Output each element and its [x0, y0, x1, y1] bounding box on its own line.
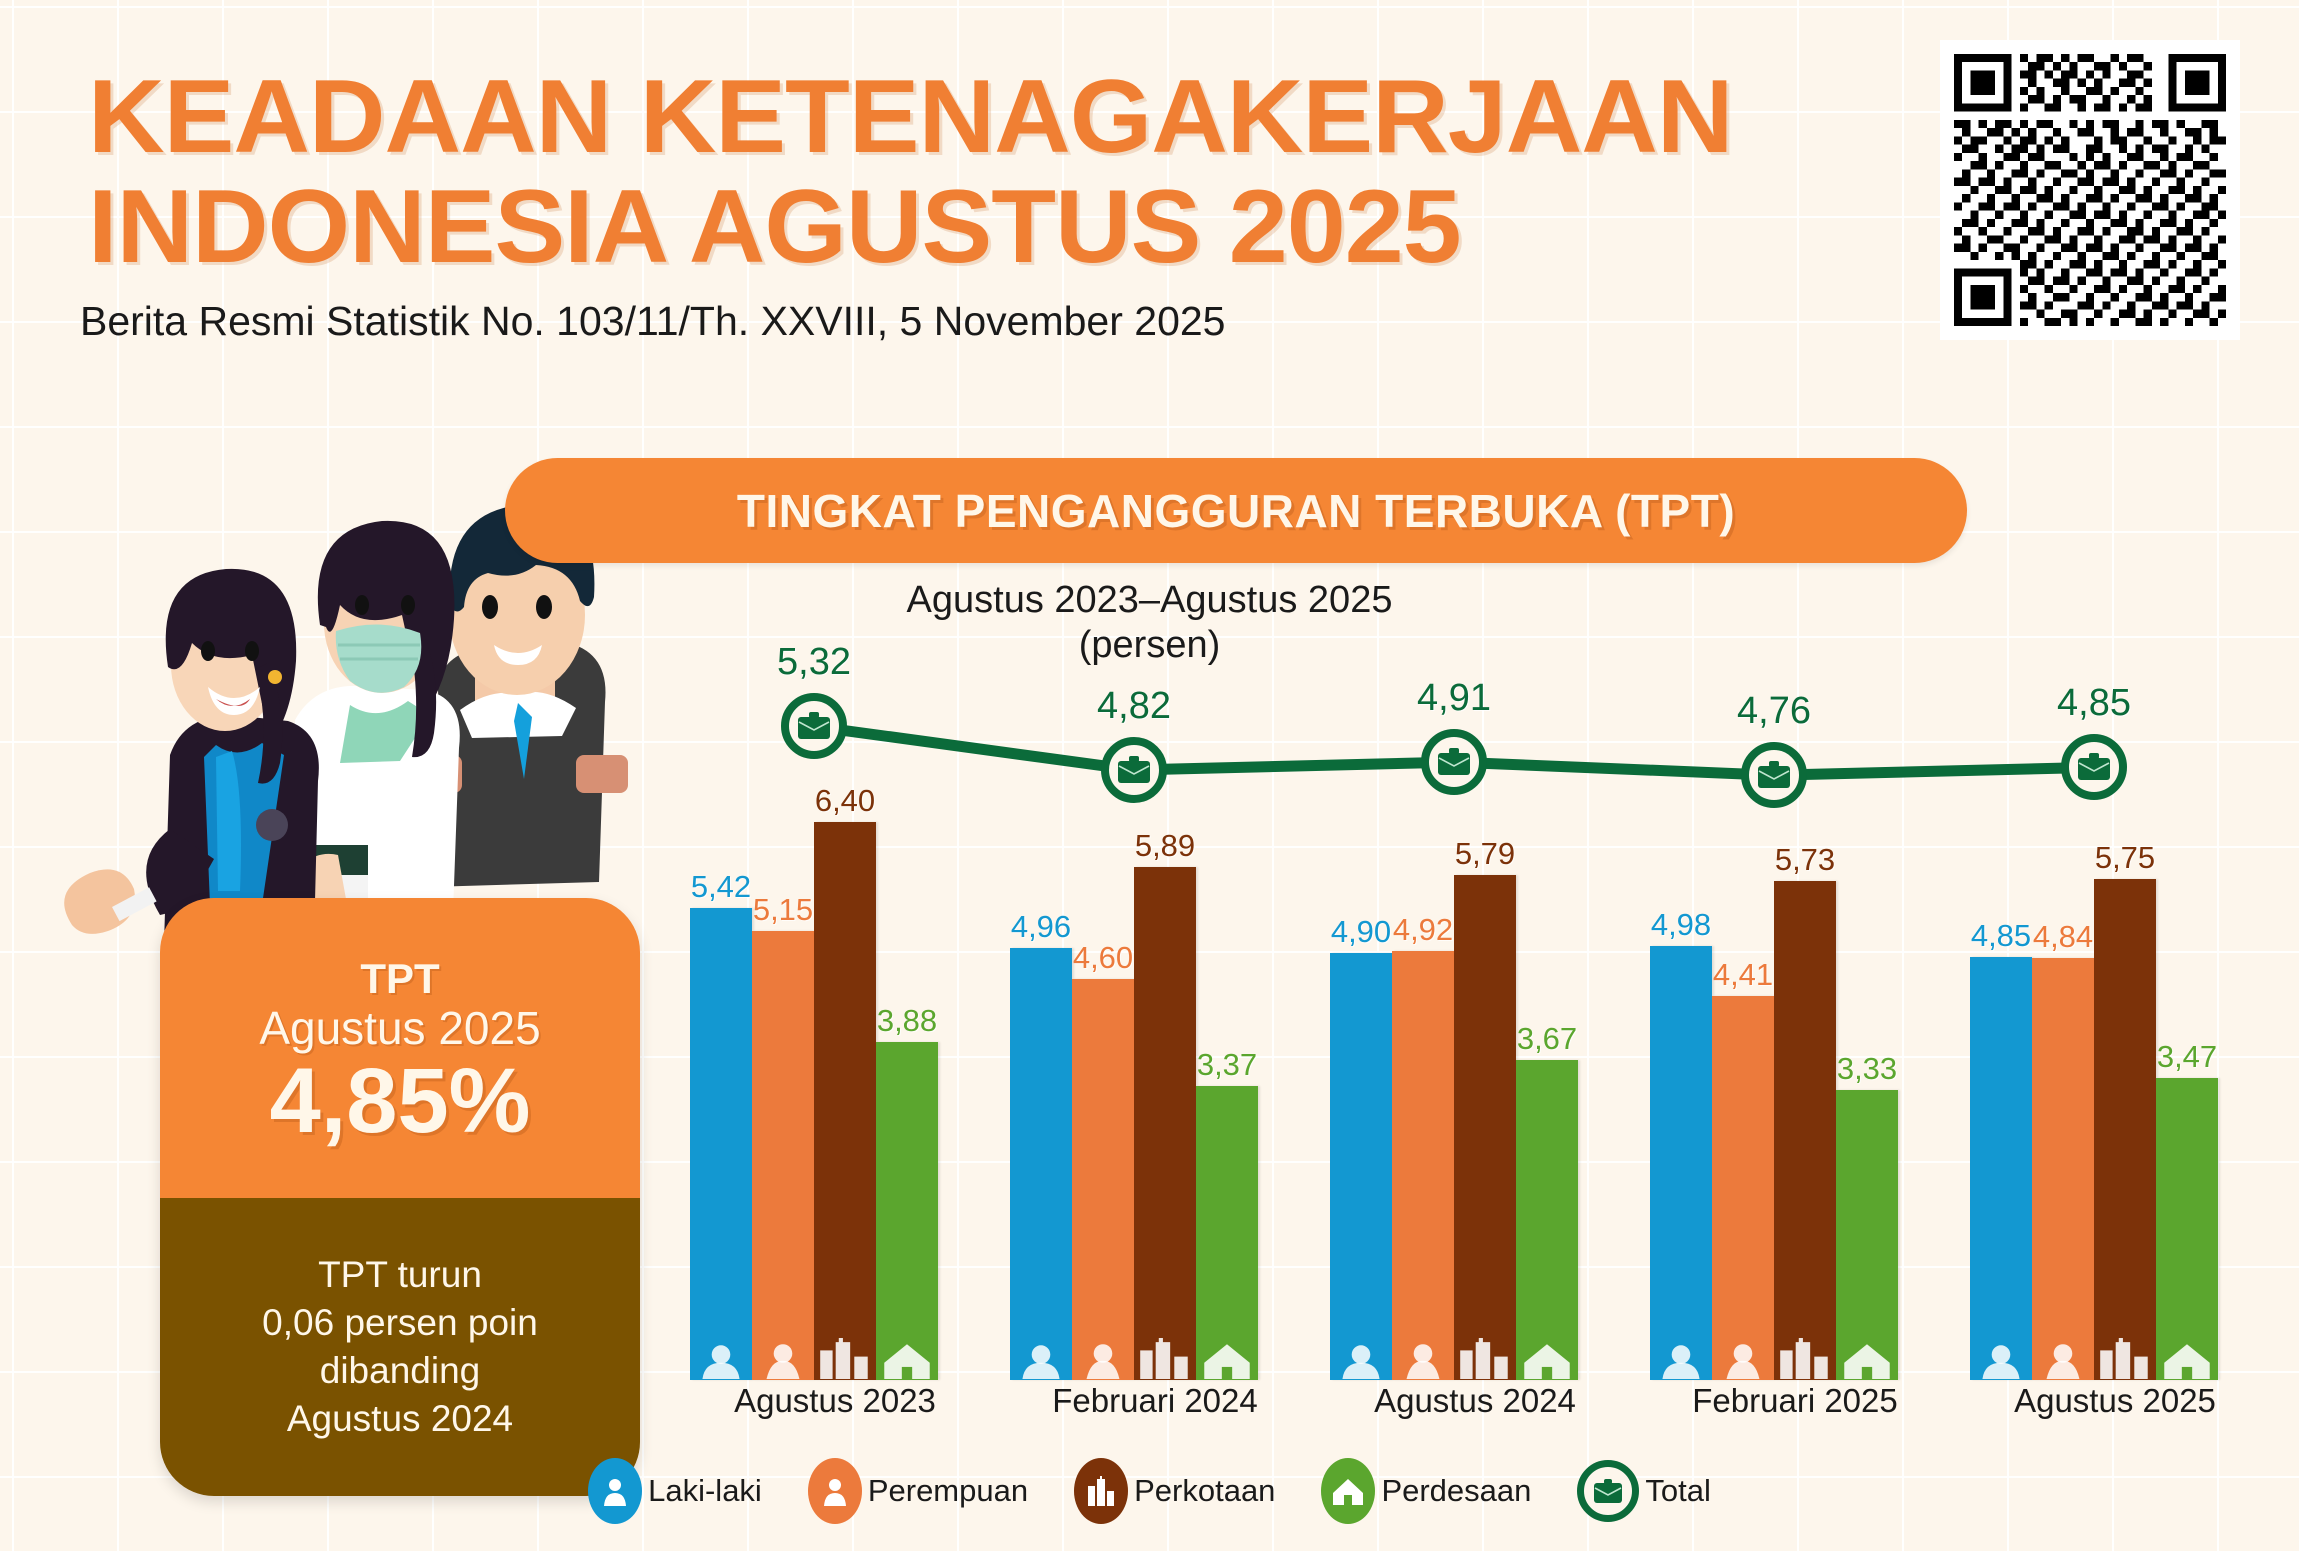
- bar-silhouette-icon: [1970, 1338, 2032, 1380]
- infographic-page: KEADAAN KETENAGAKERJAAN INDONESIA AGUSTU…: [0, 0, 2299, 1551]
- bar-silhouette-icon: [690, 1338, 752, 1380]
- chart-bars: 4,904,925,793,67: [1330, 620, 1620, 1380]
- x-axis-label: Februari 2025: [1650, 1382, 1940, 1420]
- tpt-summary-top: TPT Agustus 2025 4,85%: [160, 898, 640, 1198]
- chart-bars: 4,854,845,753,47: [1970, 620, 2260, 1380]
- legend-label: Total: [1645, 1473, 1710, 1509]
- legend-item-perkotaan[interactable]: Perkotaan: [1074, 1458, 1275, 1524]
- bar-silhouette-icon: [1712, 1338, 1774, 1380]
- chart-group: 4,854,845,753,47: [1970, 620, 2260, 1380]
- total-marker-briefcase-icon[interactable]: [1101, 737, 1167, 803]
- tpt-note-line-3: dibanding: [320, 1347, 480, 1395]
- chart-bars: 4,964,605,893,37: [1010, 620, 1300, 1380]
- x-axis-label: Agustus 2025: [1970, 1382, 2260, 1420]
- tpt-summary-card: TPT Agustus 2025 4,85% TPT turun 0,06 pe…: [160, 898, 640, 1496]
- tpt-note-line-4: Agustus 2024: [287, 1395, 513, 1443]
- briefcase-icon: [1577, 1460, 1639, 1522]
- bar-perempuan[interactable]: 4,41: [1712, 996, 1774, 1380]
- chart-banner-title: TINGKAT PENGANGGURAN TERBUKA (TPT): [737, 484, 1735, 538]
- bar-column: 3,47: [2156, 620, 2218, 1380]
- total-marker-briefcase-icon[interactable]: [781, 693, 847, 759]
- qr-code[interactable]: [1940, 40, 2240, 340]
- bar-laki-laki[interactable]: 4,96: [1010, 948, 1072, 1380]
- bar-perempuan[interactable]: 4,84: [2032, 958, 2094, 1380]
- bar-column: 4,41: [1712, 620, 1774, 1380]
- legend-label: Laki-laki: [648, 1473, 762, 1509]
- bar-value-label: 3,88: [877, 1003, 937, 1039]
- bar-column: 5,42: [690, 620, 752, 1380]
- x-axis-label: Agustus 2023: [690, 1382, 980, 1420]
- bar-silhouette-icon: [1836, 1338, 1898, 1380]
- bar-perkotaan[interactable]: 5,75: [2094, 879, 2156, 1380]
- bar-silhouette-icon: [2094, 1338, 2156, 1380]
- bar-silhouette-icon: [876, 1338, 938, 1380]
- bar-perdesaan[interactable]: 3,67: [1516, 1060, 1578, 1380]
- bar-value-label: 4,85: [1971, 918, 2031, 954]
- bar-perdesaan[interactable]: 3,37: [1196, 1086, 1258, 1380]
- tpt-note-line-2: 0,06 persen poin: [262, 1299, 538, 1347]
- legend-item-perdesaan[interactable]: Perdesaan: [1321, 1458, 1531, 1524]
- total-value-label: 4,85: [2057, 682, 2131, 725]
- legend-label: Perkotaan: [1134, 1473, 1275, 1509]
- bar-laki-laki[interactable]: 5,42: [690, 908, 752, 1380]
- total-marker-briefcase-icon[interactable]: [2061, 734, 2127, 800]
- city-buildings-icon: [1074, 1458, 1128, 1524]
- bar-column: 5,75: [2094, 620, 2156, 1380]
- person-icon: [808, 1458, 862, 1524]
- bar-column: 5,73: [1774, 620, 1836, 1380]
- legend-label: Perdesaan: [1381, 1473, 1531, 1509]
- x-axis-label: Agustus 2024: [1330, 1382, 1620, 1420]
- bar-silhouette-icon: [1774, 1338, 1836, 1380]
- bar-value-label: 3,47: [2157, 1039, 2217, 1075]
- chart-bars: 4,984,415,733,33: [1650, 620, 1940, 1380]
- chart-group: 4,904,925,793,67: [1330, 620, 1620, 1380]
- bar-column: 4,96: [1010, 620, 1072, 1380]
- bar-laki-laki[interactable]: 4,85: [1970, 957, 2032, 1380]
- chart-group: 4,984,415,733,33: [1650, 620, 1940, 1380]
- page-title-line-1: KEADAAN KETENAGAKERJAAN: [88, 68, 1732, 167]
- bar-value-label: 5,42: [691, 869, 751, 905]
- bar-perdesaan[interactable]: 3,88: [876, 1042, 938, 1380]
- bar-silhouette-icon: [1392, 1338, 1454, 1380]
- bar-value-label: 5,73: [1775, 842, 1835, 878]
- legend-item-total[interactable]: Total: [1577, 1460, 1710, 1522]
- bar-silhouette-icon: [1072, 1338, 1134, 1380]
- girl-figure: [64, 569, 319, 943]
- total-value-label: 4,82: [1097, 685, 1171, 728]
- bar-value-label: 4,98: [1651, 907, 1711, 943]
- total-marker-briefcase-icon[interactable]: [1421, 729, 1487, 795]
- qr-code-icon: [1954, 54, 2226, 326]
- bar-value-label: 6,40: [815, 783, 875, 819]
- bar-laki-laki[interactable]: 4,90: [1330, 953, 1392, 1380]
- bar-value-label: 4,84: [2033, 919, 2093, 955]
- chart-banner: TINGKAT PENGANGGURAN TERBUKA (TPT): [505, 458, 1967, 563]
- bar-column: 3,37: [1196, 620, 1258, 1380]
- bar-value-label: 5,15: [753, 892, 813, 928]
- total-value-label: 5,32: [777, 641, 851, 684]
- x-axis-label: Februari 2024: [1010, 1382, 1300, 1420]
- chart-group: 4,964,605,893,37: [1010, 620, 1300, 1380]
- bar-silhouette-icon: [1330, 1338, 1392, 1380]
- bar-column: 4,84: [2032, 620, 2094, 1380]
- bar-value-label: 4,92: [1393, 912, 1453, 948]
- bar-silhouette-icon: [1134, 1338, 1196, 1380]
- bar-silhouette-icon: [1196, 1338, 1258, 1380]
- bar-value-label: 3,33: [1837, 1051, 1897, 1087]
- tpt-summary-note: TPT turun 0,06 persen poin dibanding Agu…: [160, 1198, 640, 1496]
- bar-perempuan[interactable]: 4,92: [1392, 951, 1454, 1380]
- house-icon: [1321, 1458, 1375, 1524]
- page-subtitle: Berita Resmi Statistik No. 103/11/Th. XX…: [80, 298, 1225, 345]
- page-title-line-2: INDONESIA AGUSTUS 2025: [88, 178, 1461, 277]
- bar-silhouette-icon: [1516, 1338, 1578, 1380]
- bar-perdesaan[interactable]: 3,47: [2156, 1078, 2218, 1380]
- bar-silhouette-icon: [1010, 1338, 1072, 1380]
- bar-column: 3,33: [1836, 620, 1898, 1380]
- bar-value-label: 5,79: [1455, 836, 1515, 872]
- bar-perkotaan[interactable]: 5,79: [1454, 875, 1516, 1380]
- bar-perkotaan[interactable]: 6,40: [814, 822, 876, 1380]
- bar-column: 3,88: [876, 620, 938, 1380]
- legend-item-laki-laki[interactable]: Laki-laki: [588, 1458, 762, 1524]
- tpt-bar-chart: Agustus 20235,425,156,403,885,32Februari…: [690, 620, 2260, 1380]
- tpt-note-line-1: TPT turun: [318, 1251, 482, 1299]
- bar-silhouette-icon: [814, 1338, 876, 1380]
- bar-laki-laki[interactable]: 4,98: [1650, 946, 1712, 1380]
- bar-perkotaan[interactable]: 5,89: [1134, 867, 1196, 1380]
- legend-item-perempuan[interactable]: Perempuan: [808, 1458, 1028, 1524]
- bar-perdesaan[interactable]: 3,33: [1836, 1090, 1898, 1380]
- bar-value-label: 5,75: [2095, 840, 2155, 876]
- bar-column: 3,67: [1516, 620, 1578, 1380]
- bar-column: 4,98: [1650, 620, 1712, 1380]
- bar-perempuan[interactable]: 5,15: [752, 931, 814, 1380]
- bar-value-label: 3,37: [1197, 1047, 1257, 1083]
- bar-silhouette-icon: [1454, 1338, 1516, 1380]
- tpt-card-label-1: TPT: [360, 957, 439, 1001]
- bar-value-label: 3,67: [1517, 1021, 1577, 1057]
- chart-legend: Laki-lakiPerempuanPerkotaanPerdesaanTota…: [0, 1458, 2299, 1524]
- bar-column: 4,85: [1970, 620, 2032, 1380]
- bar-perempuan[interactable]: 4,60: [1072, 979, 1134, 1380]
- bar-column: 4,90: [1330, 620, 1392, 1380]
- bar-value-label: 4,41: [1713, 957, 1773, 993]
- bar-silhouette-icon: [2156, 1338, 2218, 1380]
- total-marker-briefcase-icon[interactable]: [1741, 742, 1807, 808]
- bar-perkotaan[interactable]: 5,73: [1774, 881, 1836, 1380]
- bar-value-label: 4,60: [1073, 940, 1133, 976]
- total-value-label: 4,76: [1737, 690, 1811, 733]
- bar-silhouette-icon: [2032, 1338, 2094, 1380]
- tpt-card-value: 4,85%: [270, 1055, 531, 1149]
- bar-column: 5,89: [1134, 620, 1196, 1380]
- bar-value-label: 5,89: [1135, 828, 1195, 864]
- bar-value-label: 4,90: [1331, 914, 1391, 950]
- legend-label: Perempuan: [868, 1473, 1028, 1509]
- bar-column: 4,60: [1072, 620, 1134, 1380]
- bar-silhouette-icon: [752, 1338, 814, 1380]
- person-icon: [588, 1458, 642, 1524]
- bar-silhouette-icon: [1650, 1338, 1712, 1380]
- bar-value-label: 4,96: [1011, 909, 1071, 945]
- tpt-card-label-2: Agustus 2025: [259, 1003, 540, 1054]
- total-value-label: 4,91: [1417, 677, 1491, 720]
